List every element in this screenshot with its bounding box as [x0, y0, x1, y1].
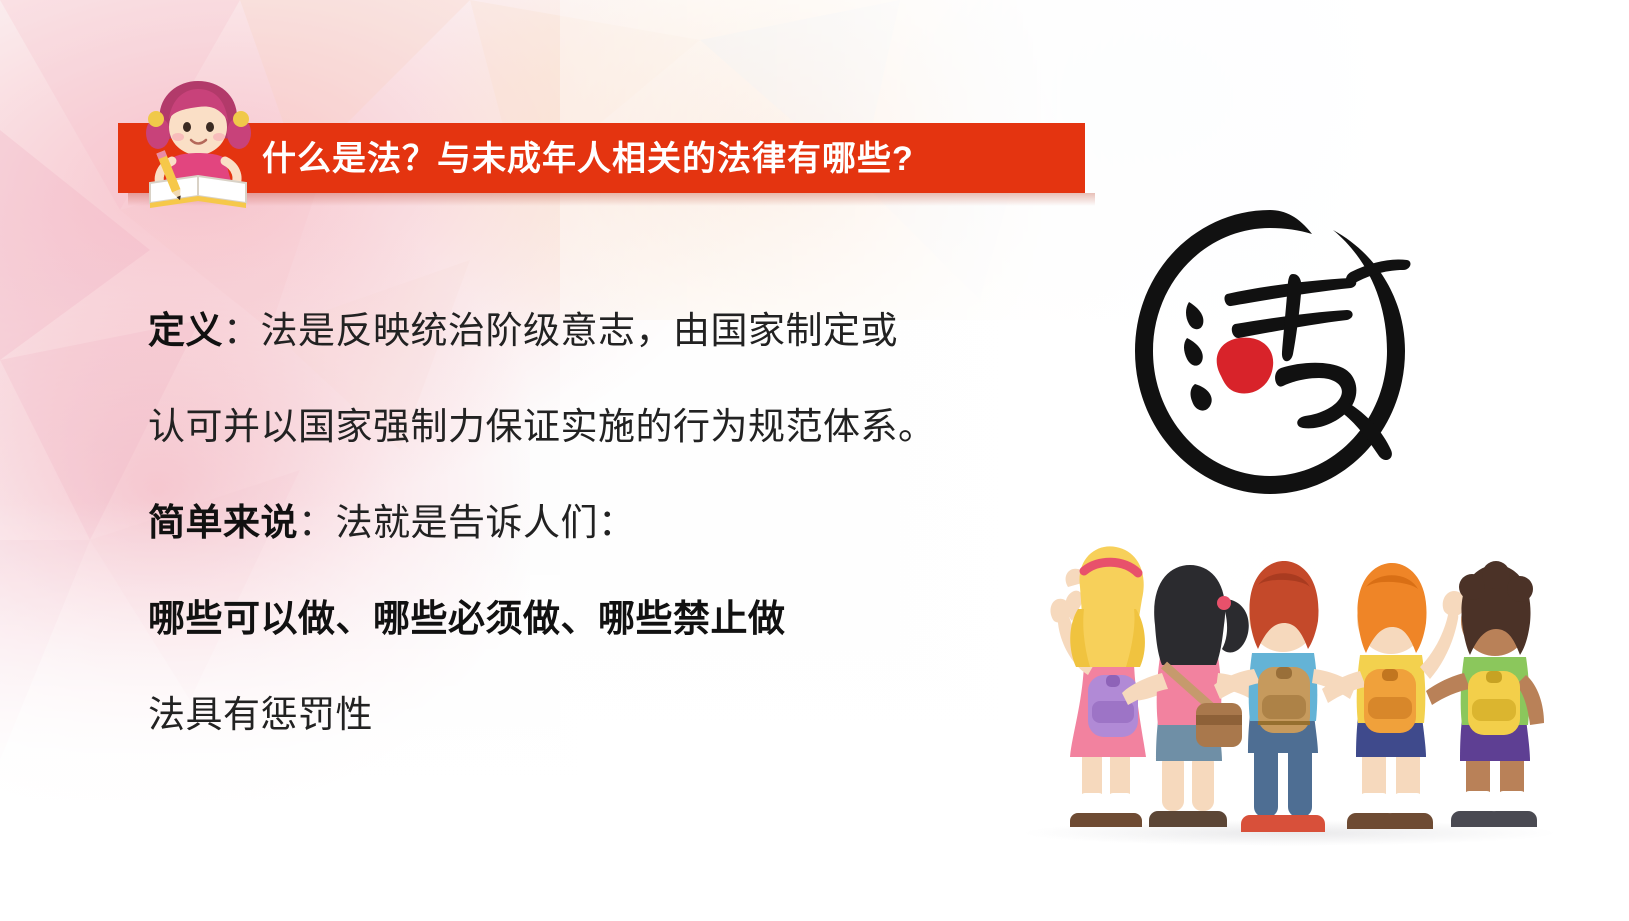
body-text-block: 定义：法是反映统治阶级意志，由国家制定或 认可并以国家强制力保证实施的行为规范体… [148, 283, 1028, 763]
body-line-5: 法具有惩罚性 [148, 667, 1028, 763]
fa-calligraphy-seal-icon [1115, 198, 1425, 508]
body-line-1: 定义：法是反映统治阶级意志，由国家制定或 [148, 283, 1028, 379]
body-line-3: 简单来说：法就是告诉人们： [148, 475, 1028, 571]
girl-reading-book-icon [128, 75, 268, 210]
body-line-2: 认可并以国家强制力保证实施的行为规范体系。 [148, 379, 1028, 475]
child-black-hair-girl [1122, 565, 1260, 827]
body-line-1-text: 法是反映统治阶级意志，由国家制定或 [261, 310, 899, 351]
body-line-1-lead: 定义 [148, 310, 223, 351]
body-line-5-text: 法具有惩罚性 [148, 694, 373, 735]
body-line-2-text: 认可并以国家强制力保证实施的行为规范体系。 [148, 406, 936, 447]
body-line-4: 哪些可以做、哪些必须做、哪些禁止做 [148, 571, 1028, 667]
page-title: 什么是法？与未成年人相关的法律有哪些? [262, 138, 1062, 180]
body-line-4-text: 哪些可以做、哪些必须做、哪些禁止做 [148, 598, 786, 639]
body-line-1-sep: ： [223, 310, 261, 351]
body-line-3-sep: ： [298, 502, 336, 543]
title-banner-shadow [128, 193, 1095, 206]
five-children-back-view-illustration [1010, 525, 1570, 855]
body-line-3-text: 法就是告诉人们： [336, 502, 636, 543]
slide: 什么是法？与未成年人相关的法律有哪些? [0, 0, 1629, 921]
body-line-3-lead: 简单来说 [148, 502, 298, 543]
